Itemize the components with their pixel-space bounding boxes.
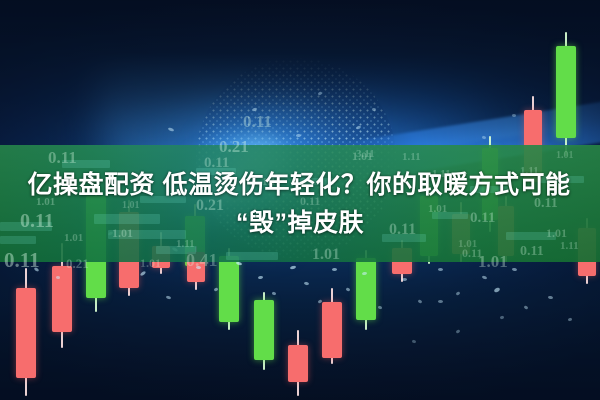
promotional-banner-image: 0.110.110.111.011.011.011.011.110.210.21… [0,0,600,400]
candlestick-body [288,345,308,382]
candlestick-body [254,300,274,360]
candlestick-body [219,256,239,322]
candlestick-body [16,288,36,378]
candlestick-body [556,46,576,138]
candlestick-body [322,302,342,358]
headline-line-2: “毁”掉皮肤 [236,205,364,241]
headline-line-1: 亿操盘配资 低温烫伤年轻化？你的取暖方式可能 [28,167,573,203]
candlestick-body [356,258,376,320]
headline-block: 亿操盘配资 低温烫伤年轻化？你的取暖方式可能 “毁”掉皮肤 [0,145,600,262]
candlestick-body [52,266,72,332]
